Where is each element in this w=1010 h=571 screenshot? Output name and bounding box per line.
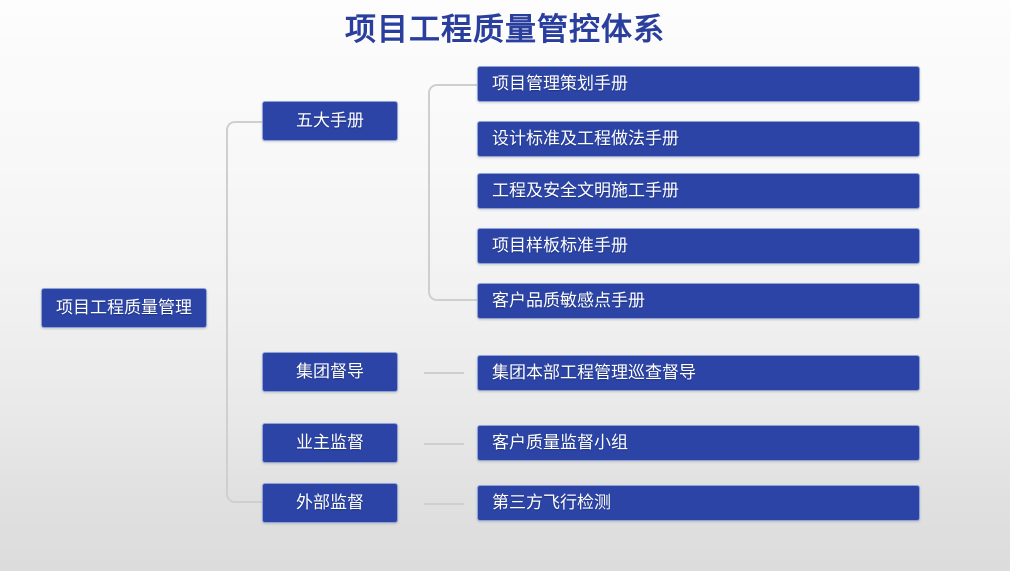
page-title: 项目工程质量管控体系 <box>0 4 1010 49</box>
node-branch-group-supervision[interactable]: 集团督导 <box>262 352 398 392</box>
node-root-project-quality-management[interactable]: 项目工程质量管理 <box>41 288 207 328</box>
connector-manuals-bracket <box>428 84 477 301</box>
node-branch-owner-supervision[interactable]: 业主监督 <box>262 423 398 463</box>
connector-root-to-branches <box>226 121 262 503</box>
node-leaf-third-party-flight-inspection[interactable]: 第三方飞行检测 <box>477 485 920 521</box>
node-leaf-design-standard-manual[interactable]: 设计标准及工程做法手册 <box>477 121 920 157</box>
node-branch-five-manuals[interactable]: 五大手册 <box>262 101 398 141</box>
node-leaf-project-management-planning-manual[interactable]: 项目管理策划手册 <box>477 66 920 102</box>
node-leaf-customer-quality-supervision-team[interactable]: 客户质量监督小组 <box>477 425 920 461</box>
node-leaf-safety-civilized-construction-manual[interactable]: 工程及安全文明施工手册 <box>477 173 920 209</box>
node-branch-external-supervision[interactable]: 外部监督 <box>262 483 398 523</box>
node-leaf-project-sample-standard-manual[interactable]: 项目样板标准手册 <box>477 228 920 264</box>
slide-canvas: 项目工程质量管控体系 项目工程质量管理 五大手册 集团督导 业主监督 外部监督 … <box>0 0 1010 571</box>
connector-group-supervision <box>424 372 464 374</box>
connector-owner-supervision <box>424 443 464 445</box>
node-leaf-customer-quality-sensitive-points-manual[interactable]: 客户品质敏感点手册 <box>477 283 920 319</box>
connector-external-supervision <box>424 503 464 505</box>
node-leaf-group-headquarters-inspection[interactable]: 集团本部工程管理巡查督导 <box>477 355 920 391</box>
